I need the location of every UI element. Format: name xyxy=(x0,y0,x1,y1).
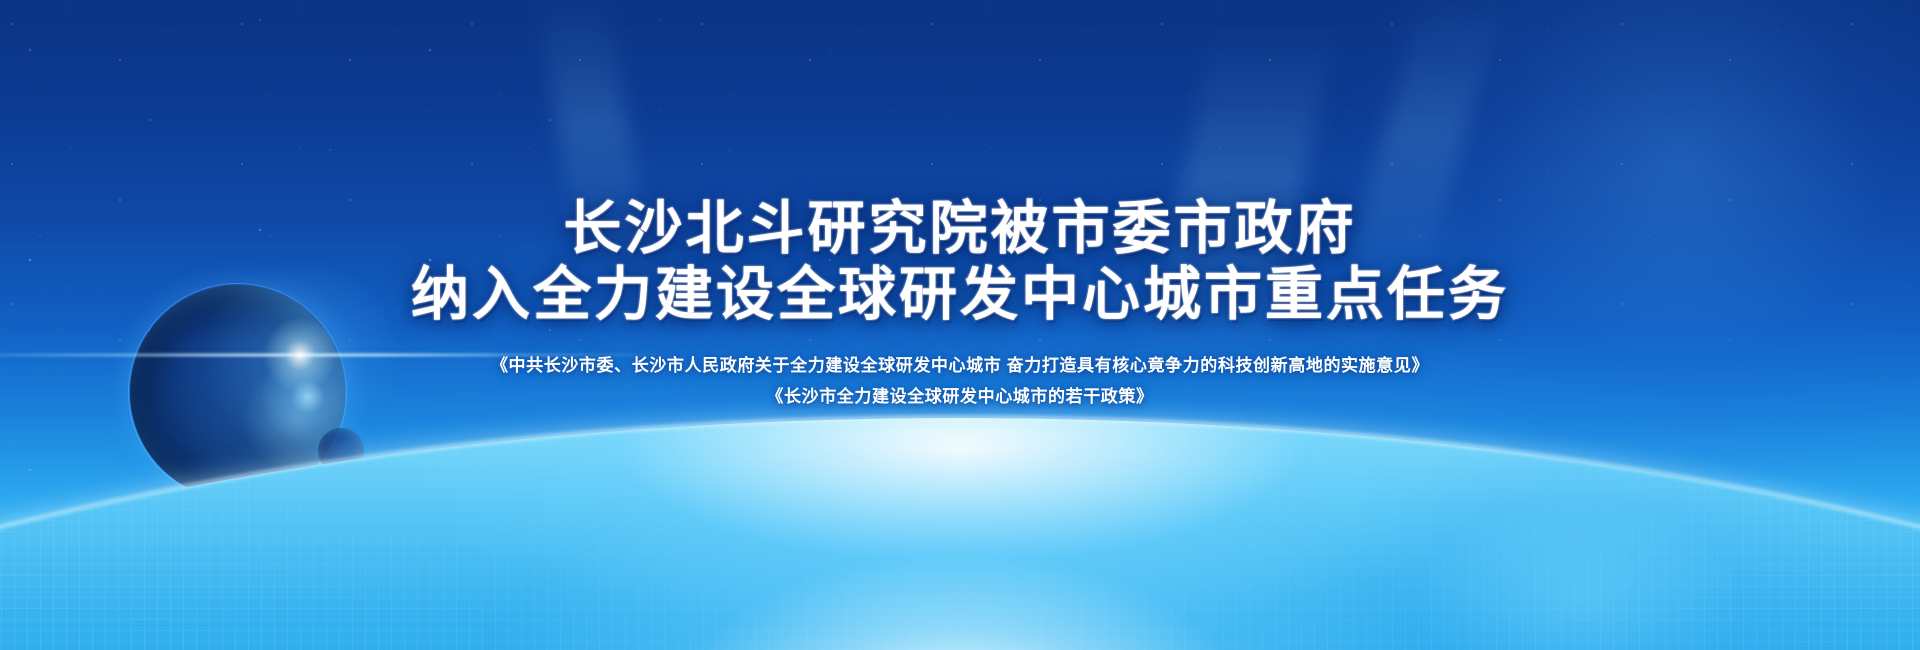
banner-subtitle-line-1: 《中共长沙市委、长沙市人民政府关于全力建设全球研发中心城市 奋力打造具有核心竟争… xyxy=(0,350,1920,381)
banner-content: 长沙北斗研究院被市委市政府 纳入全力建设全球研发中心城市重点任务 《中共长沙市委… xyxy=(0,0,1920,412)
banner-title-line-1: 长沙北斗研究院被市委市政府 xyxy=(0,196,1920,262)
hero-banner: 长沙北斗研究院被市委市政府 纳入全力建设全球研发中心城市重点任务 《中共长沙市委… xyxy=(0,0,1920,650)
banner-subtitle-line-2: 《长沙市全力建设全球研发中心城市的若干政策》 xyxy=(0,381,1920,412)
earth-horizon xyxy=(0,418,1920,650)
banner-subtitle: 《中共长沙市委、长沙市人民政府关于全力建设全球研发中心城市 奋力打造具有核心竟争… xyxy=(0,350,1920,412)
surface-speckle-icon xyxy=(0,418,1920,650)
banner-title-line-2: 纳入全力建设全球研发中心城市重点任务 xyxy=(0,262,1920,328)
banner-title: 长沙北斗研究院被市委市政府 纳入全力建设全球研发中心城市重点任务 xyxy=(0,0,1920,328)
